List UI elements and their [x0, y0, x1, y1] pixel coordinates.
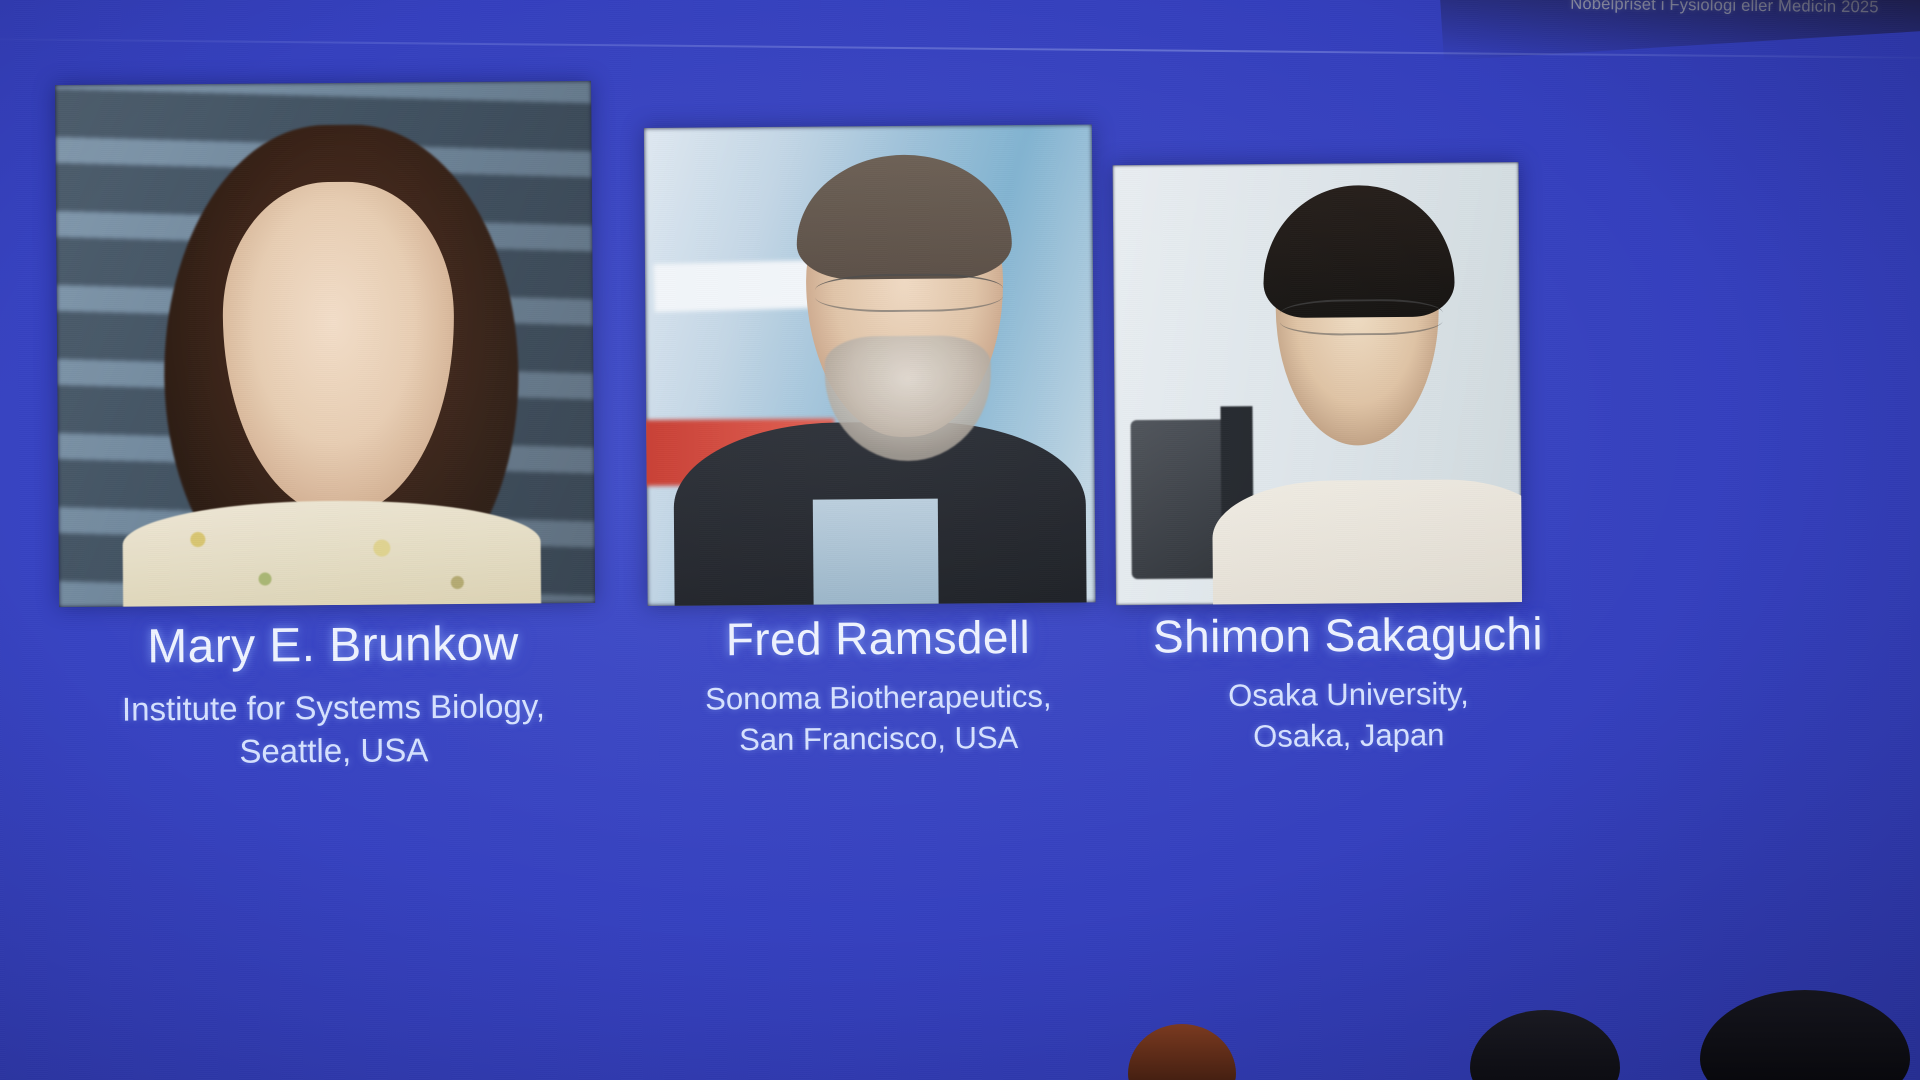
portrait-shirt-3 — [1212, 479, 1522, 606]
laureate-affiliation-1: Institute for Systems Biology, Seattle, … — [0, 683, 684, 776]
laureate-affiliation-1-line2: Seattle, USA — [0, 727, 684, 776]
portrait-clothing-1 — [123, 499, 542, 607]
portrait-photo-3 — [1113, 162, 1522, 605]
audience-head-2 — [1470, 1010, 1620, 1080]
portrait-glasses-2 — [815, 273, 1003, 313]
laureate-caption-2: Fred Ramsdell Sonoma Biotherapeutics, Sa… — [643, 612, 1114, 761]
audience-silhouettes — [0, 960, 1920, 1080]
laureate-affiliation-2: Sonoma Biotherapeutics, San Francisco, U… — [643, 676, 1114, 762]
laureate-affiliation-3-line1: Osaka University, — [1133, 673, 1563, 717]
projection-screen: The Nobel Prize in Physiology or Medicin… — [0, 0, 1920, 1080]
laureate-affiliation-3-line2: Osaka, Japan — [1134, 714, 1564, 758]
audience-head-3 — [1700, 990, 1910, 1080]
portrait-photo-1 — [55, 81, 595, 607]
laureate-caption-1: Mary E. Brunkow Institute for Systems Bi… — [0, 617, 684, 775]
audience-head-1 — [1128, 1024, 1236, 1080]
laureate-name-3: Shimon Sakaguchi — [1133, 609, 1563, 662]
portrait-shirt-2 — [813, 499, 939, 606]
laureate-name-1: Mary E. Brunkow — [0, 617, 683, 674]
laureate-name-2: Fred Ramsdell — [643, 612, 1113, 665]
laureates-row: Mary E. Brunkow Institute for Systems Bi… — [0, 0, 1920, 1043]
laureate-affiliation-2-line2: San Francisco, USA — [644, 717, 1114, 762]
presentation-slide: The Nobel Prize in Physiology or Medicin… — [0, 0, 1920, 1080]
laureate-affiliation-3: Osaka University, Osaka, Japan — [1133, 673, 1564, 758]
portrait-photo-2 — [644, 124, 1096, 606]
portrait-glasses-3 — [1280, 299, 1443, 335]
laureate-affiliation-1-line1: Institute for Systems Biology, — [0, 683, 684, 732]
laureate-caption-3: Shimon Sakaguchi Osaka University, Osaka… — [1133, 609, 1564, 758]
laureate-affiliation-2-line1: Sonoma Biotherapeutics, — [643, 676, 1113, 721]
